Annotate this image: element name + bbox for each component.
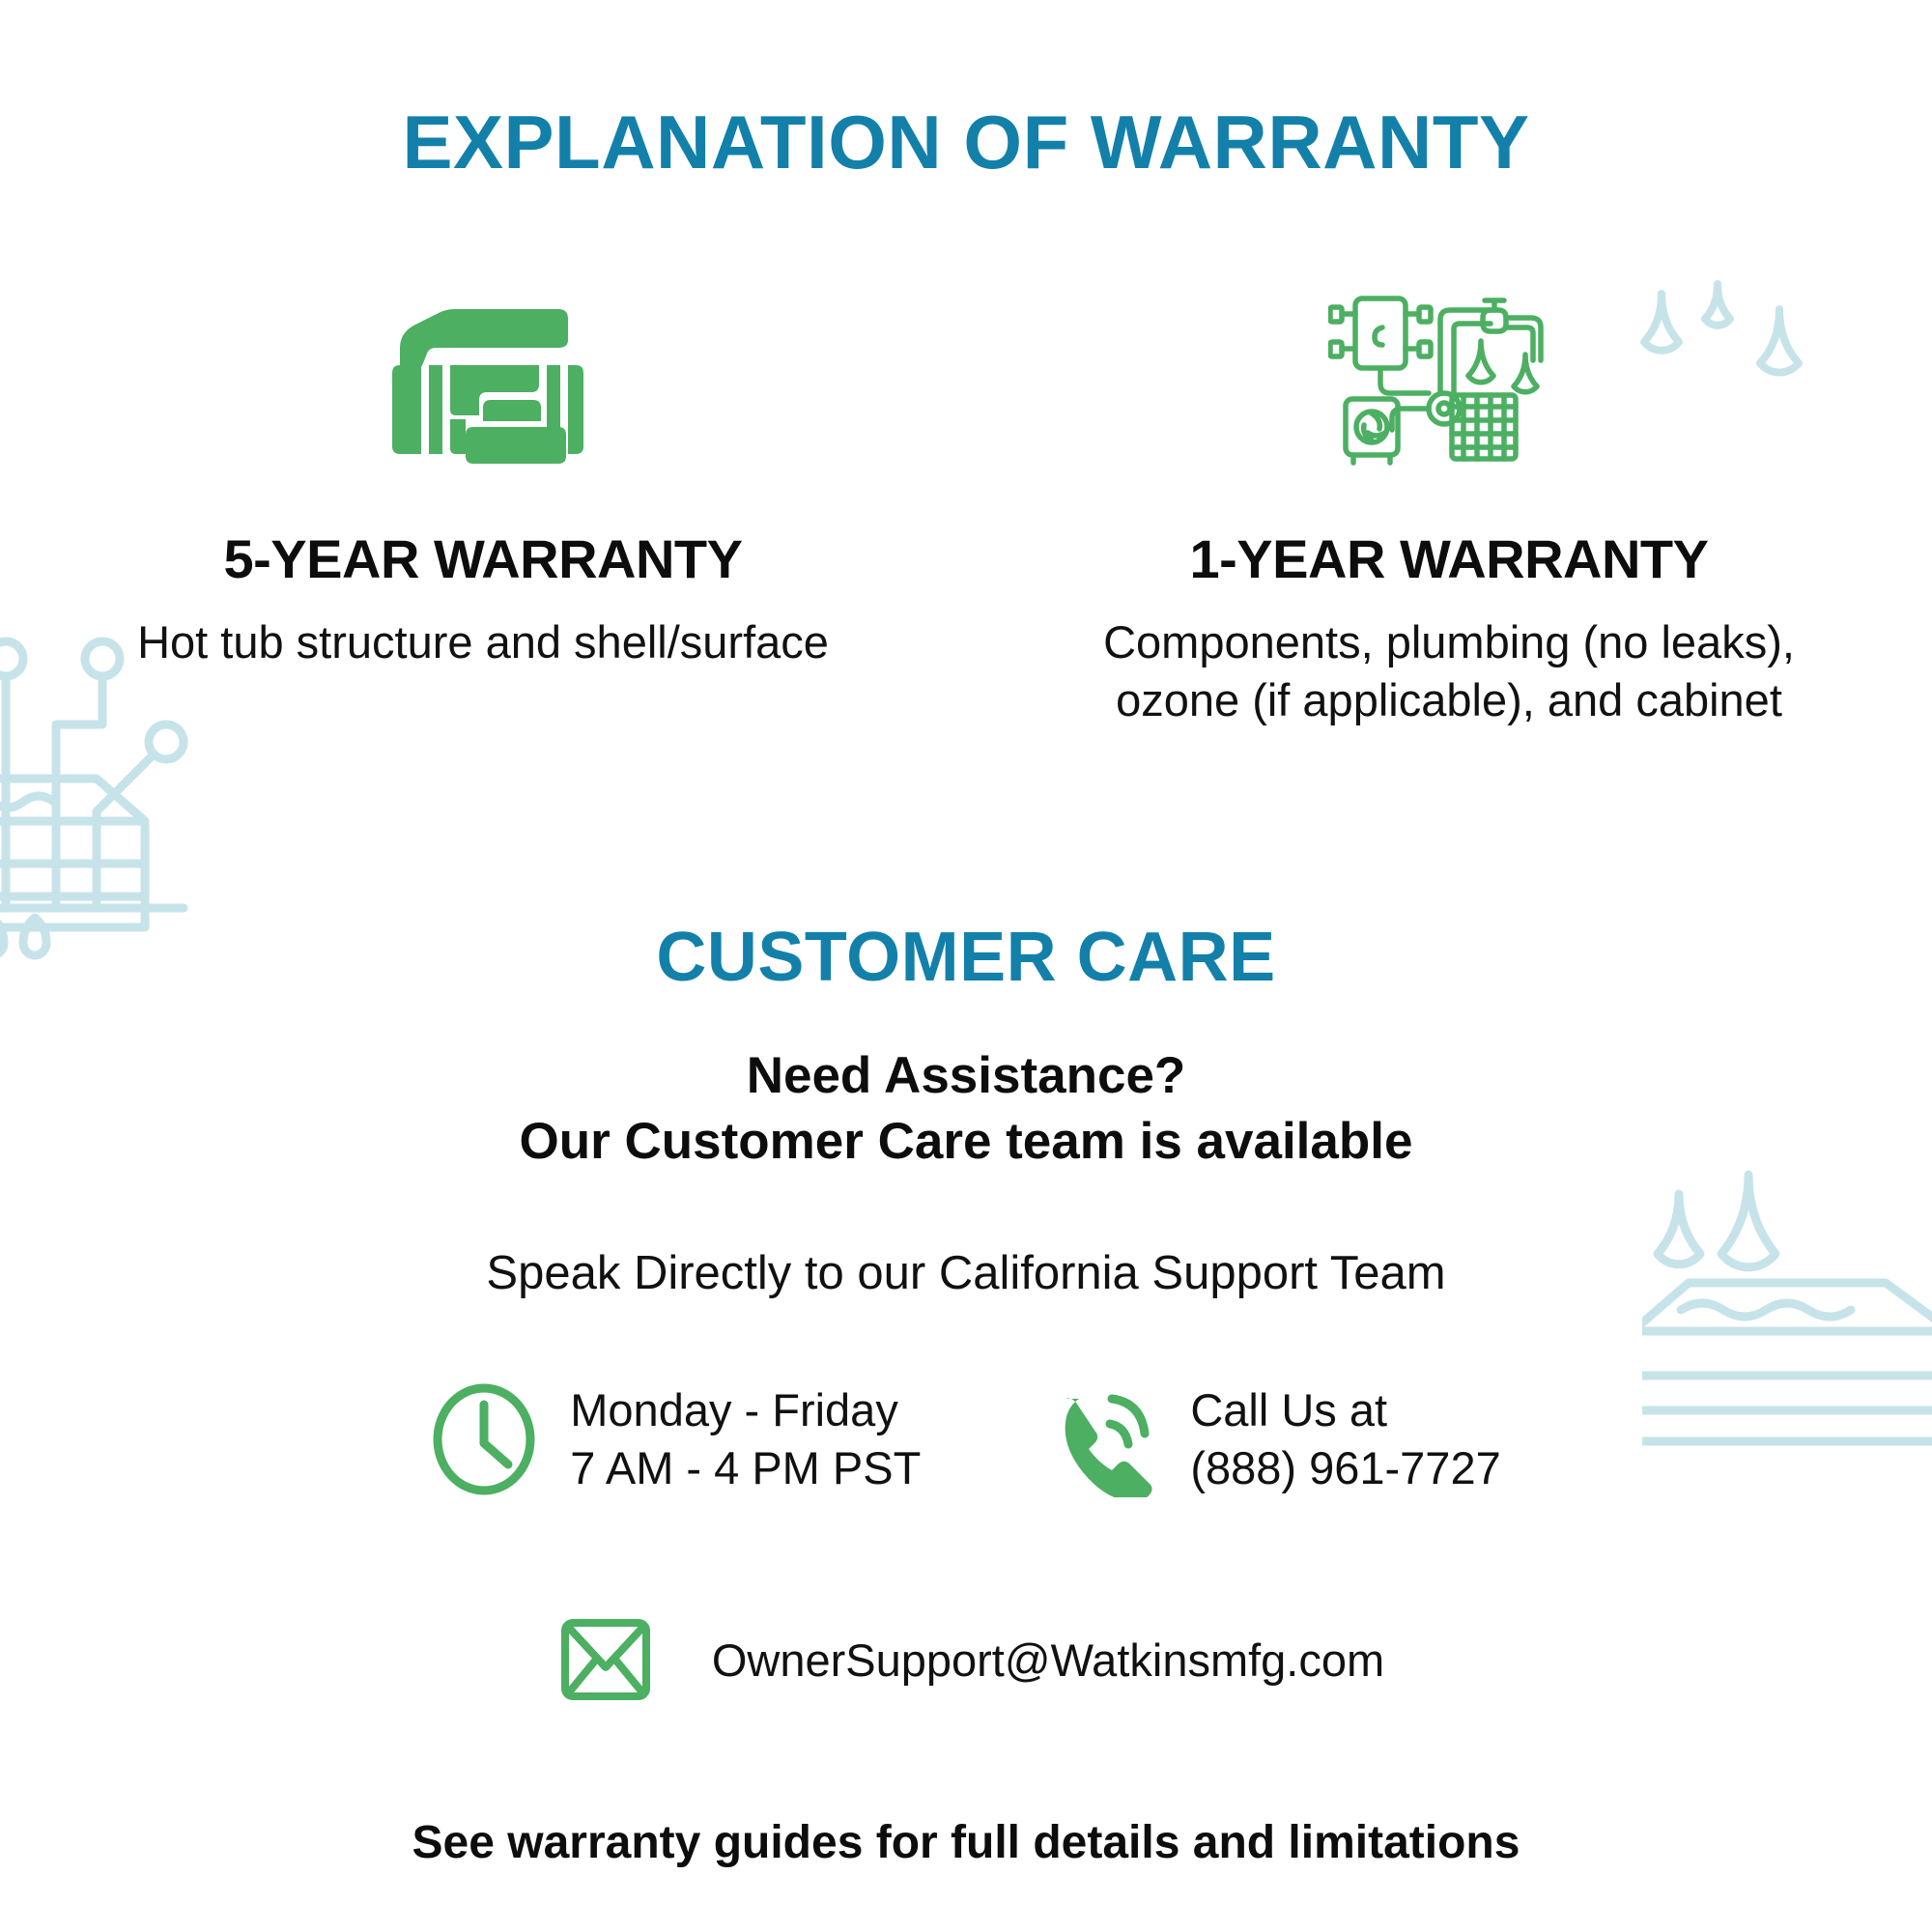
warranty-heading-5-year: 5-YEAR WARRANTY [224,531,743,588]
warranty-columns: 5-YEAR WARRANTY Hot tub structure and sh… [0,276,1932,729]
email-address[interactable]: OwnerSupport@Watkinsmfg.com [712,1634,1384,1687]
customer-care-subtitle-line2: Our Customer Care team is available [0,1109,1932,1175]
customer-care-title: CUSTOMER CARE [0,923,1932,992]
warranty-column-1-year: 1-YEAR WARRANTY Components, plumbing (no… [966,276,1932,729]
envelope-icon [557,1613,654,1706]
contact-phone[interactable]: Call Us at (888) 961-7727 [1046,1381,1500,1497]
warranty-column-5-year: 5-YEAR WARRANTY Hot tub structure and sh… [0,276,966,671]
plumbing-components-icon [1328,276,1570,508]
contact-row: Monday - Friday 7 AM - 4 PM PST Call Us … [0,1381,1932,1497]
customer-care-subtitle: Need Assistance? Our Customer Care team … [0,1043,1932,1175]
footer-note: See warranty guides for full details and… [0,1816,1932,1869]
contact-hours-text: Monday - Friday 7 AM - 4 PM PST [570,1381,921,1497]
warranty-description-5-year: Hot tub structure and shell/surface [137,613,829,671]
customer-care-speak-line: Speak Directly to our California Support… [0,1246,1932,1300]
hot-tub-icon [367,276,599,508]
clock-icon [431,1381,537,1497]
warranty-info-page: EXPLANATION OF WARRANTY [0,0,1932,1932]
warranty-heading-1-year: 1-YEAR WARRANTY [1190,531,1709,588]
warranty-description-1-year: Components, plumbing (no leaks), ozone (… [1063,613,1835,729]
contact-phone-text: Call Us at (888) 961-7727 [1190,1381,1500,1497]
customer-care-subtitle-line1: Need Assistance? [0,1043,1932,1109]
phone-icon [1046,1381,1157,1497]
page-title: EXPLANATION OF WARRANTY [0,104,1932,180]
contact-hours: Monday - Friday 7 AM - 4 PM PST [431,1381,921,1497]
contact-email[interactable]: OwnerSupport@Watkinsmfg.com [0,1613,1932,1706]
